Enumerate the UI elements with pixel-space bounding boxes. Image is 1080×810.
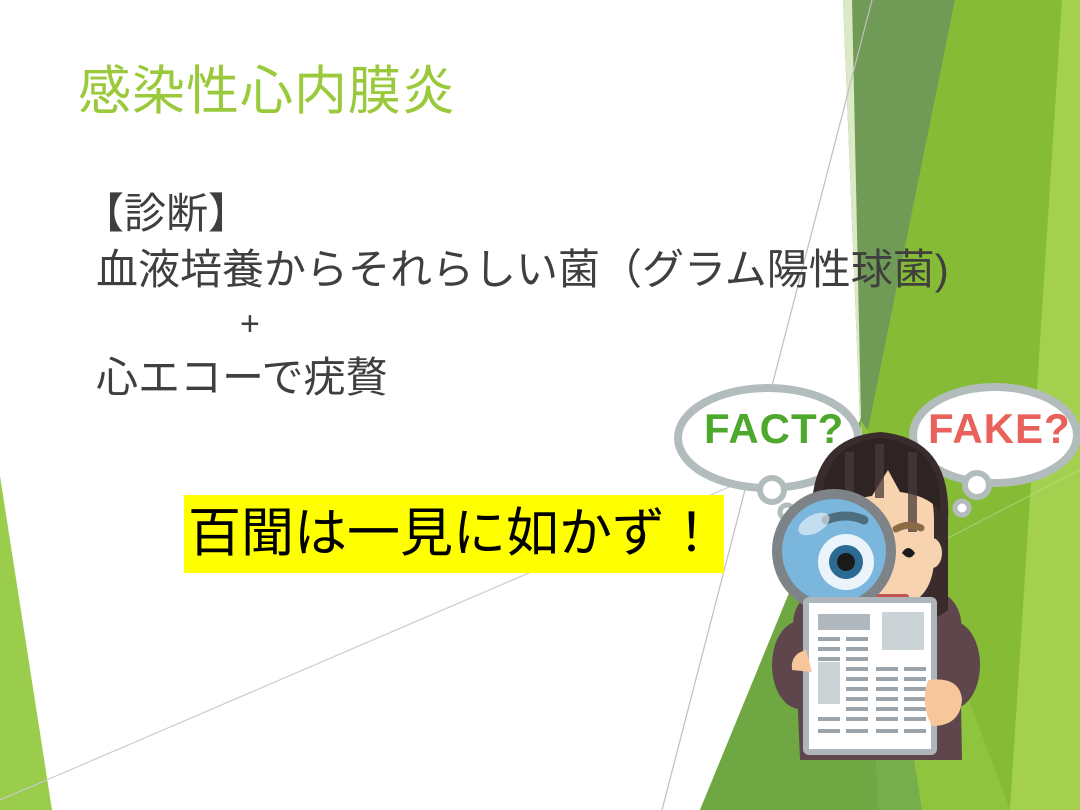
highlight-banner: 百聞は一見に如かず！ (184, 495, 724, 573)
slide-canvas: 感染性心内膜炎 【診断】 血液培養からそれらしい菌（グラム陽性球菌) + 心エコ… (0, 0, 1080, 810)
body-line-blood-culture: 血液培養からそれらしい菌（グラム陽性球菌) (82, 242, 982, 298)
page-title: 感染性心内膜炎 (78, 62, 456, 123)
highlight-proverb-text: 百聞は一見に如かず！ (184, 495, 724, 573)
body-text-block: 【診断】 血液培養からそれらしい菌（グラム陽性球菌) + 心エコーで疣贅 (82, 186, 982, 406)
bubble-fake-label: FAKE? (928, 405, 1071, 453)
bubble-fact-label: FACT? (704, 405, 844, 453)
body-line-echocardiogram: 心エコーで疣贅 (82, 350, 982, 406)
body-line-plus: + (82, 299, 982, 350)
body-heading-diagnosis: 【診断】 (82, 186, 982, 242)
